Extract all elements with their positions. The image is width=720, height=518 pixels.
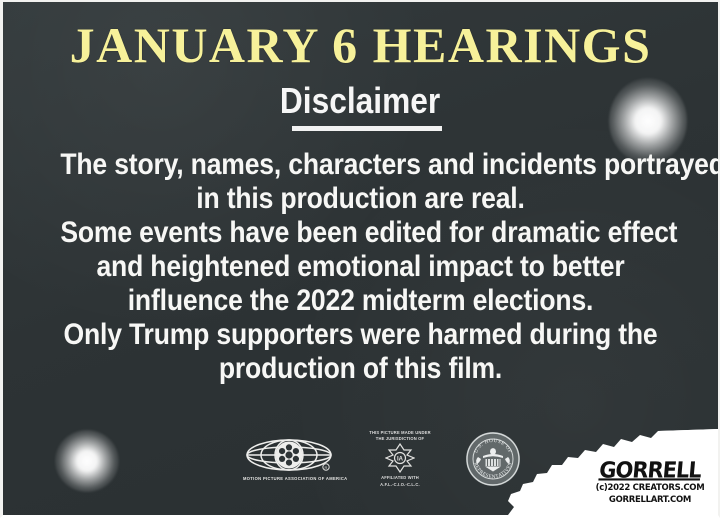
mpaa-globe-reel-icon: R [245, 438, 333, 474]
light-glow-bottom-left [55, 430, 119, 492]
svg-text:R: R [325, 465, 328, 470]
mpaa-caption: MOTION PICTURE ASSOCIATION OF AMERICA [243, 476, 335, 481]
disclaimer-line: and heightened emotional impact to bette… [60, 250, 660, 284]
house-seal-logo: U.S. HOUSE OF REPRESENTATIVES [465, 431, 523, 487]
logo-strip: R MOTION PICTURE ASSOCIATION OF AMERICA … [243, 426, 523, 492]
us-house-seal-icon: U.S. HOUSE OF REPRESENTATIVES [465, 431, 521, 487]
artist-signature: GORRELL (c)2022 CREATORS.COM GORRELLART.… [590, 460, 710, 505]
disclaimer-line: Some events have been edited for dramati… [60, 216, 660, 250]
iatse-bottom-line-2: A.F.L.-C.I.O.-C.L.C. [363, 482, 437, 487]
iatse-top-line-2: THE JURISDICTION OF [363, 436, 437, 441]
editorial-cartoon-panel: JANUARY 6 HEARINGS Disclaimer The story,… [0, 0, 720, 518]
subtitle-container: Disclaimer [3, 82, 718, 120]
disclaimer-body: The story, names, characters and inciden… [27, 148, 694, 386]
disclaimer-line: The story, names, characters and inciden… [60, 148, 660, 182]
page-title: JANUARY 6 HEARINGS [3, 20, 718, 70]
signature-copyright: (c)2022 CREATORS.COM [590, 483, 710, 493]
iatse-top-line-1: THIS PICTURE MADE UNDER [363, 430, 437, 435]
disclaimer-line: Only Trump supporters were harmed during… [60, 318, 660, 352]
subtitle-heading: Disclaimer [280, 82, 440, 120]
signature-name: GORRELL [589, 459, 711, 481]
mpaa-logo: R MOTION PICTURE ASSOCIATION OF AMERICA [243, 438, 335, 481]
iatse-logo: THIS PICTURE MADE UNDER THE JURISDICTION… [363, 430, 437, 488]
signature-website: GORRELLART.COM [590, 495, 710, 505]
svg-text:IA: IA [397, 456, 404, 462]
iatse-bottom-line-1: AFFILIATED WITH [363, 475, 437, 480]
iatse-union-bug-icon: IA [385, 443, 415, 473]
subtitle-underline [292, 126, 442, 131]
disclaimer-line: production of this film. [60, 352, 660, 386]
disclaimer-line: influence the 2022 midterm elections. [60, 284, 660, 318]
disclaimer-line: in this production are real. [60, 182, 660, 216]
